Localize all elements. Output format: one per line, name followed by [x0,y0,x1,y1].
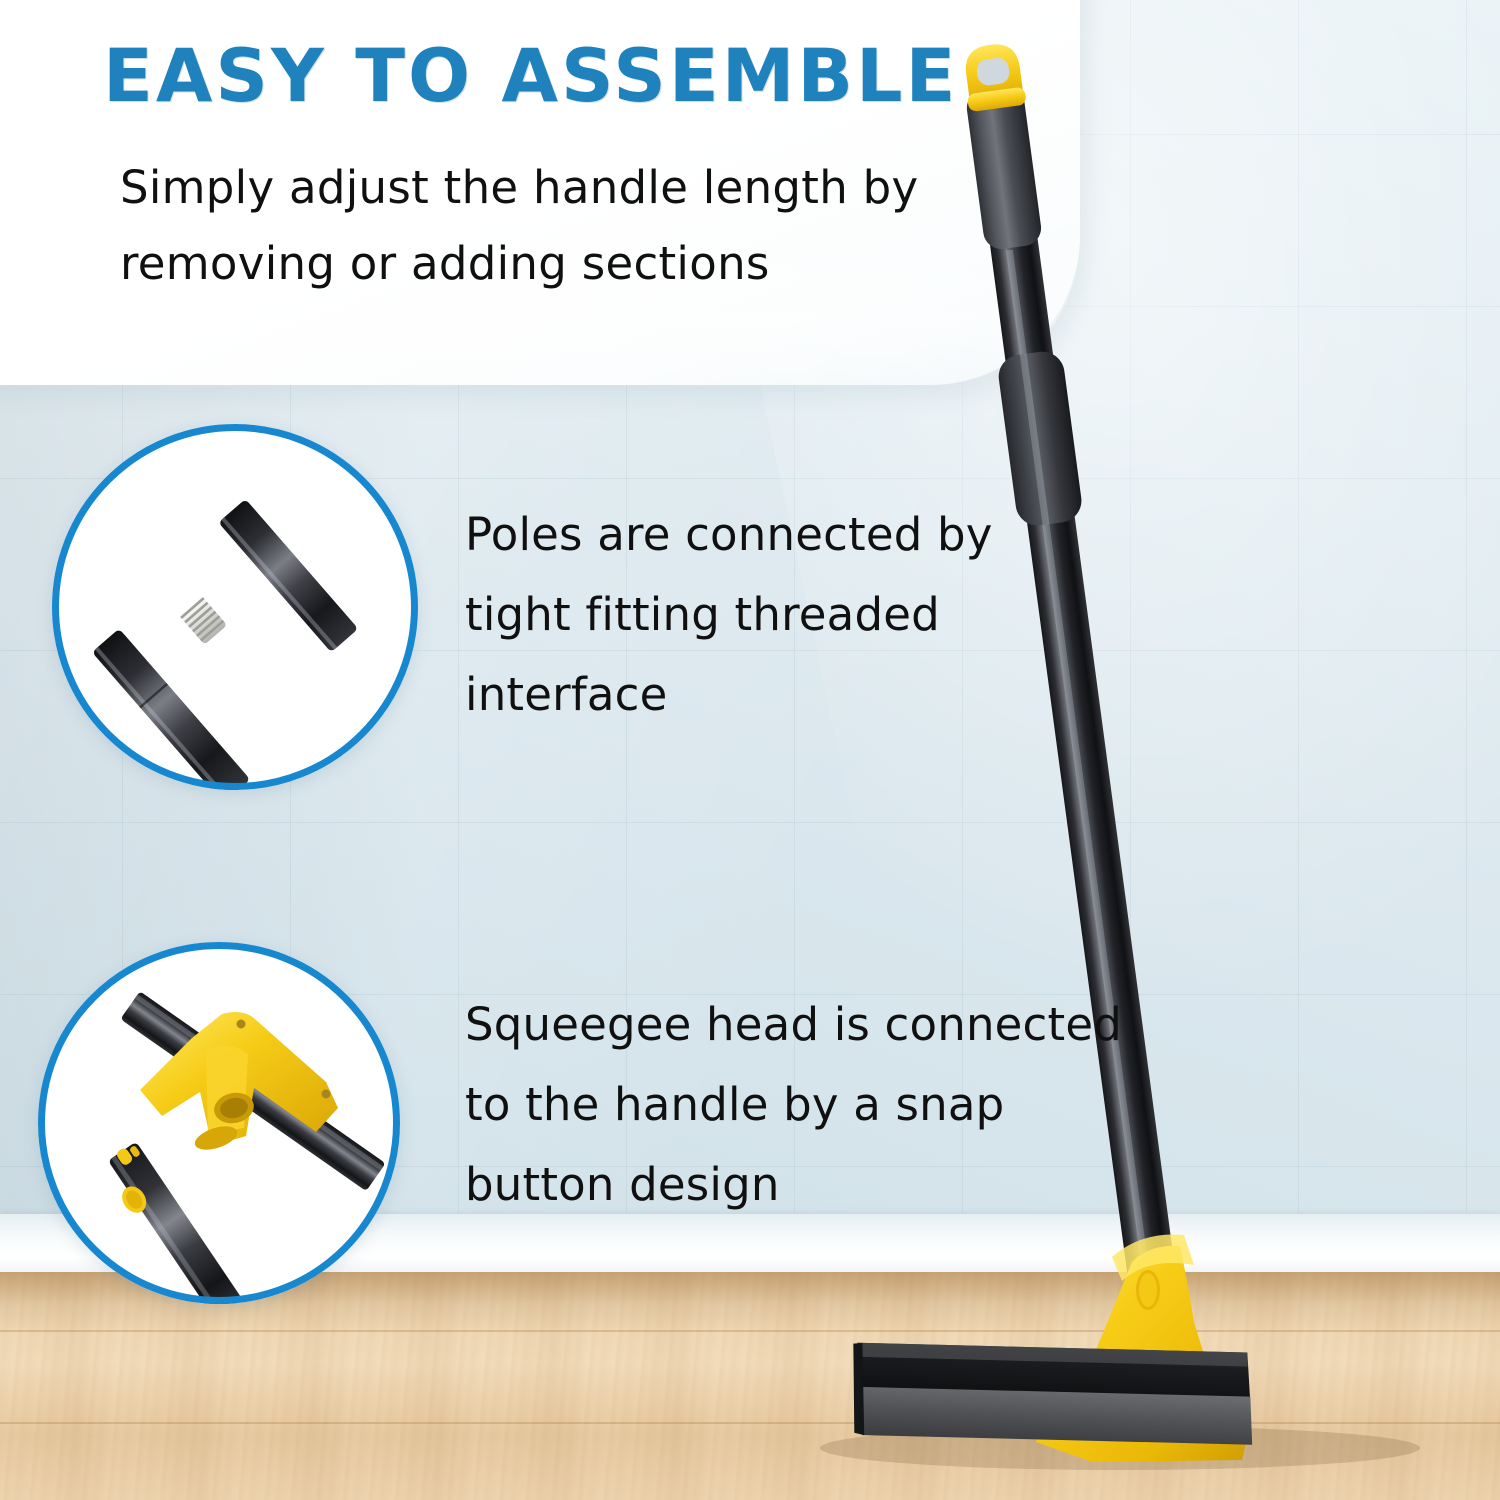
callout-circle-threaded-interface [52,424,418,790]
floor-plank-seam [0,1422,1500,1424]
threaded-pole-photo [52,424,418,790]
callout-text-threaded-interface: Poles are connected by tight fitting thr… [465,495,1105,735]
page-title: EASY TO ASSEMBLE [103,34,958,119]
subtitle-text: Simply adjust the handle length by remov… [120,150,1000,302]
floor-plank-seam [0,1330,1500,1332]
wood-floor [0,1272,1500,1500]
infographic-canvas: EASY TO ASSEMBLE Simply adjust the handl… [0,0,1500,1500]
snap-button-head-photo [38,942,400,1304]
callout-text-snap-button: Squeegee head is connected to the handle… [465,985,1125,1225]
callout-circle-snap-button [38,942,400,1304]
wood-grain-texture [0,1272,1500,1500]
